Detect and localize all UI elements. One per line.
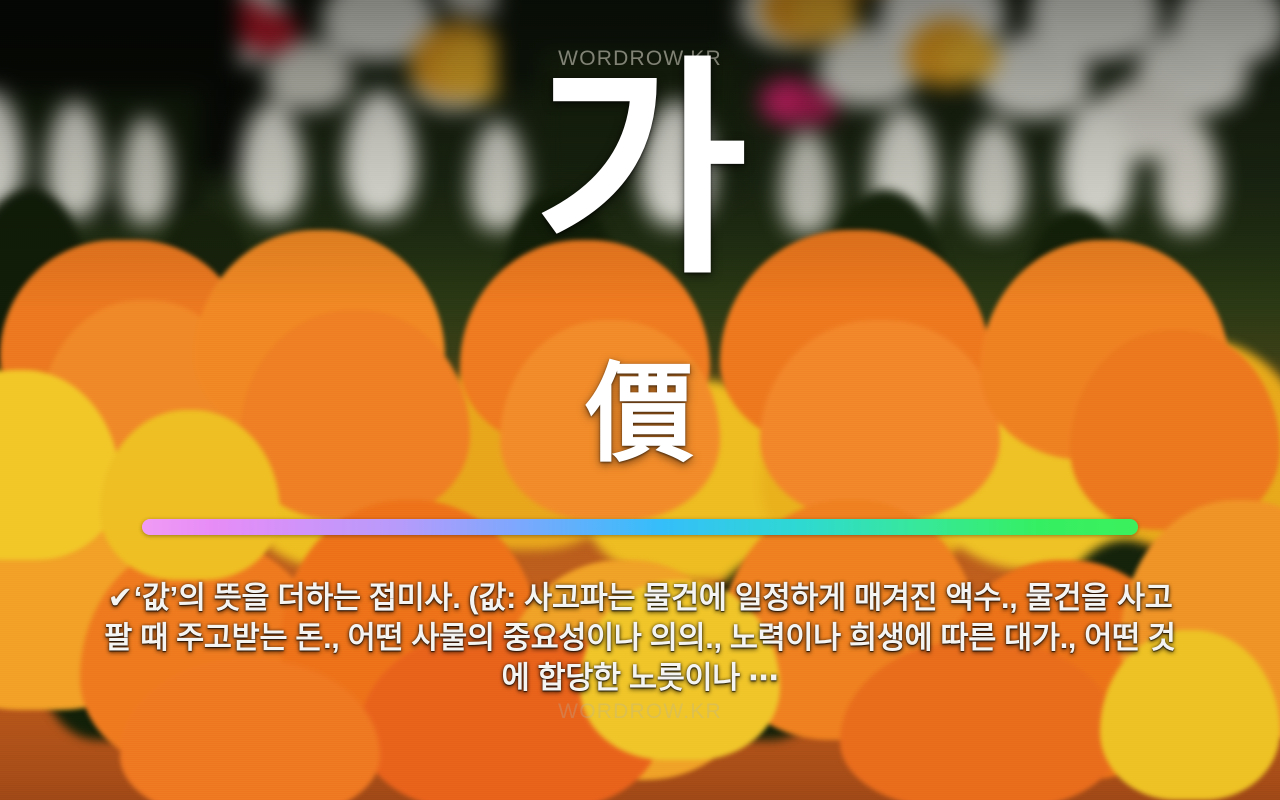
definition-body: ‘값’의 뜻을 더하는 접미사. (값: 사고파는 물건에 일정하게 매겨진 액… (104, 581, 1175, 695)
gradient-divider (142, 519, 1138, 535)
word-card: WORDROW.KR 가 價 ✔‘값’의 뜻을 더하는 접미사. (값: 사고파… (0, 0, 1280, 800)
card-content: WORDROW.KR 가 價 ✔‘값’의 뜻을 더하는 접미사. (값: 사고파… (0, 0, 1280, 800)
headword: 가 (0, 56, 1280, 288)
check-icon: ✔ (107, 581, 132, 615)
definition-text: ✔‘값’의 뜻을 더하는 접미사. (값: 사고파는 물건에 일정하게 매겨진 … (96, 578, 1184, 698)
watermark-bottom: WORDROW.KR (0, 700, 1280, 724)
hanja-character: 價 (0, 360, 1280, 468)
